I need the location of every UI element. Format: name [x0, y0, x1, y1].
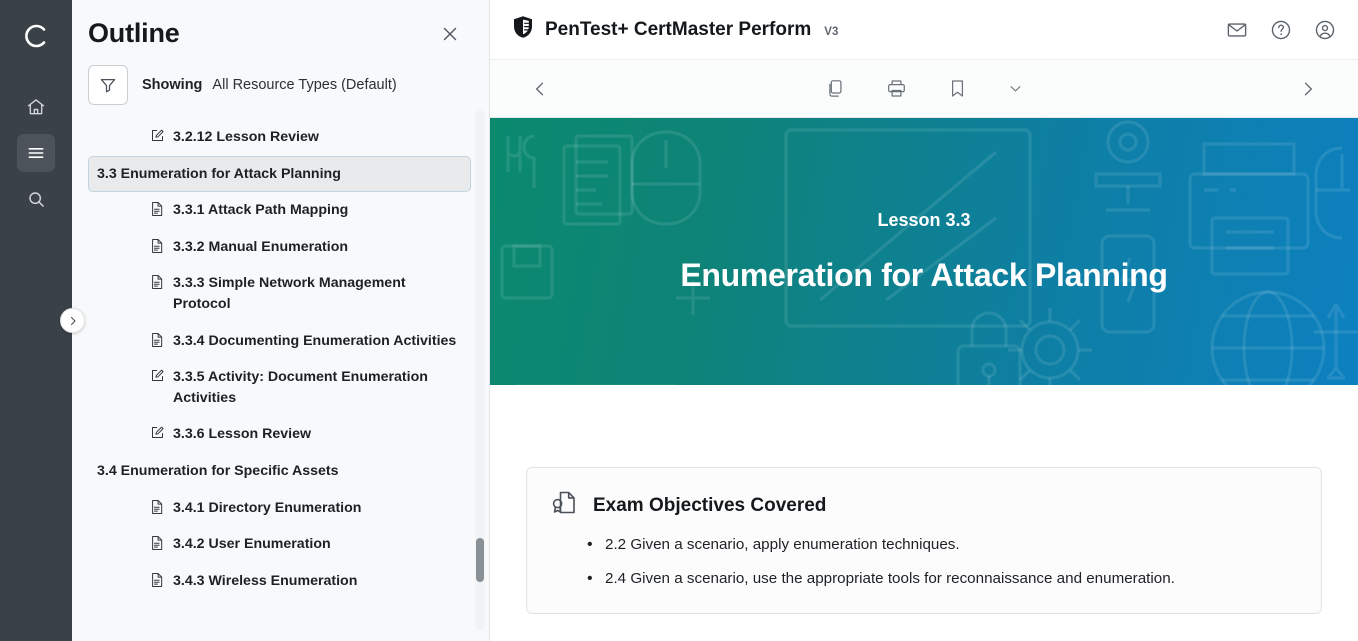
list-item-label: 3.3.1 Attack Path Mapping — [173, 200, 348, 221]
list-item[interactable]: 3.3.2 Manual Enumeration — [140, 229, 471, 266]
outline-tree: 3.2.12 Lesson Review 3.3 Enumeration for… — [72, 119, 489, 641]
list-item-label: 3.4.3 Wireless Enumeration — [173, 571, 357, 592]
list-item-label: 3.3.2 Manual Enumeration — [173, 237, 348, 258]
next-page-button[interactable] — [1298, 79, 1318, 99]
toolbar-actions — [490, 78, 1358, 99]
rail-item-search[interactable] — [17, 180, 55, 218]
mail-icon[interactable] — [1226, 19, 1248, 41]
print-icon — [886, 78, 907, 99]
collapse-panel-button[interactable] — [60, 308, 85, 333]
callout-title: Exam Objectives Covered — [593, 495, 826, 517]
c-logo-icon[interactable] — [14, 14, 58, 58]
outline-header: Outline — [72, 0, 489, 59]
list-item[interactable]: 3.4.2 User Enumeration — [140, 526, 471, 563]
filter-row: Showing All Resource Types (Default) — [72, 59, 489, 119]
chevron-left-icon — [530, 79, 550, 99]
product-version: V3 — [824, 26, 838, 38]
main-region: PenTest+ CertMaster Perform V3 — [490, 0, 1358, 641]
banner-eyebrow: Lesson 3.3 — [877, 210, 970, 231]
page-title: Outline — [88, 18, 180, 49]
rail-item-outline[interactable] — [17, 134, 55, 172]
list-item-label: 3.3.4 Documenting Enumeration Activities — [173, 331, 456, 352]
page-icon — [149, 498, 165, 515]
showing-label: Showing — [142, 77, 202, 93]
home-icon — [26, 97, 46, 117]
bookmark-button[interactable] — [947, 78, 968, 99]
list-item[interactable]: 3.2.12 Lesson Review — [140, 119, 471, 156]
chevron-right-icon — [67, 315, 79, 327]
callout-header: Exam Objectives Covered — [549, 488, 1297, 523]
exam-objectives-callout: Exam Objectives Covered 2.2 Given a scen… — [526, 467, 1322, 614]
lesson-banner: Lesson 3.3 Enumeration for Attack Planni… — [490, 118, 1358, 385]
list-item-label: 3.2.12 Lesson Review — [173, 127, 319, 148]
document-body: Exam Objectives Covered 2.2 Given a scen… — [490, 385, 1358, 641]
filter-funnel-icon — [98, 75, 118, 95]
list-item[interactable]: 3.4 Enumeration for Specific Assets — [88, 453, 471, 490]
filter-button[interactable] — [88, 65, 128, 105]
document-content: Lesson 3.3 Enumeration for Attack Planni… — [490, 118, 1358, 641]
showing-value[interactable]: All Resource Types (Default) — [212, 77, 396, 93]
chevron-down-icon — [1008, 81, 1023, 96]
list-item[interactable]: 3.3.1 Attack Path Mapping — [140, 192, 471, 229]
account-circle-icon[interactable] — [1314, 19, 1336, 41]
app-root: Outline Showing All Resource Types (Defa… — [0, 0, 1358, 641]
prev-page-button[interactable] — [530, 79, 550, 99]
menu-icon — [26, 143, 46, 163]
list-item[interactable]: 3.3.5 Activity: Document Enumeration Act… — [140, 359, 471, 416]
certificate-document-icon — [549, 488, 579, 523]
list-item[interactable]: 3.4.3 Wireless Enumeration — [140, 563, 471, 600]
product-name: PenTest+ CertMaster Perform — [545, 19, 811, 41]
list-item-selected[interactable]: 3.3 Enumeration for Attack Planning — [88, 156, 471, 193]
bookmark-icon — [947, 78, 968, 99]
page-icon — [149, 273, 165, 290]
list-item: 2.2 Given a scenario, apply enumeration … — [605, 534, 1297, 557]
list-item-label: 3.3 Enumeration for Attack Planning — [97, 164, 341, 185]
header-icons — [1226, 19, 1336, 41]
outline-scrollbar-thumb[interactable] — [476, 538, 484, 582]
page-icon — [149, 534, 165, 551]
list-item-label: 3.3.6 Lesson Review — [173, 424, 311, 445]
rail-item-home[interactable] — [17, 88, 55, 126]
list-item[interactable]: 3.4.1 Directory Enumeration — [140, 490, 471, 527]
chevron-right-icon — [1298, 79, 1318, 99]
outline-panel: Outline Showing All Resource Types (Defa… — [72, 0, 490, 641]
brand: PenTest+ CertMaster Perform V3 — [512, 15, 838, 44]
objectives-list: 2.2 Given a scenario, apply enumeration … — [549, 534, 1297, 591]
search-icon — [26, 189, 46, 209]
page-icon — [149, 237, 165, 254]
shield-logo-icon — [512, 15, 534, 44]
list-item[interactable]: 3.3.4 Documenting Enumeration Activities — [140, 323, 471, 360]
print-button[interactable] — [886, 78, 907, 99]
more-options-button[interactable] — [1008, 81, 1023, 96]
activity-pencil-icon — [149, 127, 165, 143]
banner-title: Enumeration for Attack Planning — [680, 257, 1167, 294]
list-item-label: 3.4.2 User Enumeration — [173, 534, 331, 555]
document-toolbar — [490, 60, 1358, 118]
outline-scrollbar[interactable] — [475, 110, 485, 630]
list-item[interactable]: 3.3.6 Lesson Review — [140, 416, 471, 453]
page-icon — [149, 571, 165, 588]
close-icon[interactable] — [437, 21, 463, 47]
copy-icon — [825, 78, 846, 99]
activity-pencil-icon — [149, 367, 165, 383]
page-icon — [149, 331, 165, 348]
app-header: PenTest+ CertMaster Perform V3 — [490, 0, 1358, 60]
copy-button[interactable] — [825, 78, 846, 99]
help-circle-icon[interactable] — [1270, 19, 1292, 41]
list-item[interactable]: 3.3.3 Simple Network Management Protocol — [140, 265, 471, 322]
list-item-label: 3.4 Enumeration for Specific Assets — [97, 461, 339, 482]
page-icon — [149, 200, 165, 217]
activity-pencil-icon — [149, 424, 165, 440]
list-item-label: 3.4.1 Directory Enumeration — [173, 498, 361, 519]
list-item: 2.4 Given a scenario, use the appropriat… — [605, 568, 1297, 591]
list-item-label: 3.3.3 Simple Network Management Protocol — [173, 273, 462, 314]
banner-pattern-icons — [490, 118, 1358, 385]
list-item-label: 3.3.5 Activity: Document Enumeration Act… — [173, 367, 462, 408]
